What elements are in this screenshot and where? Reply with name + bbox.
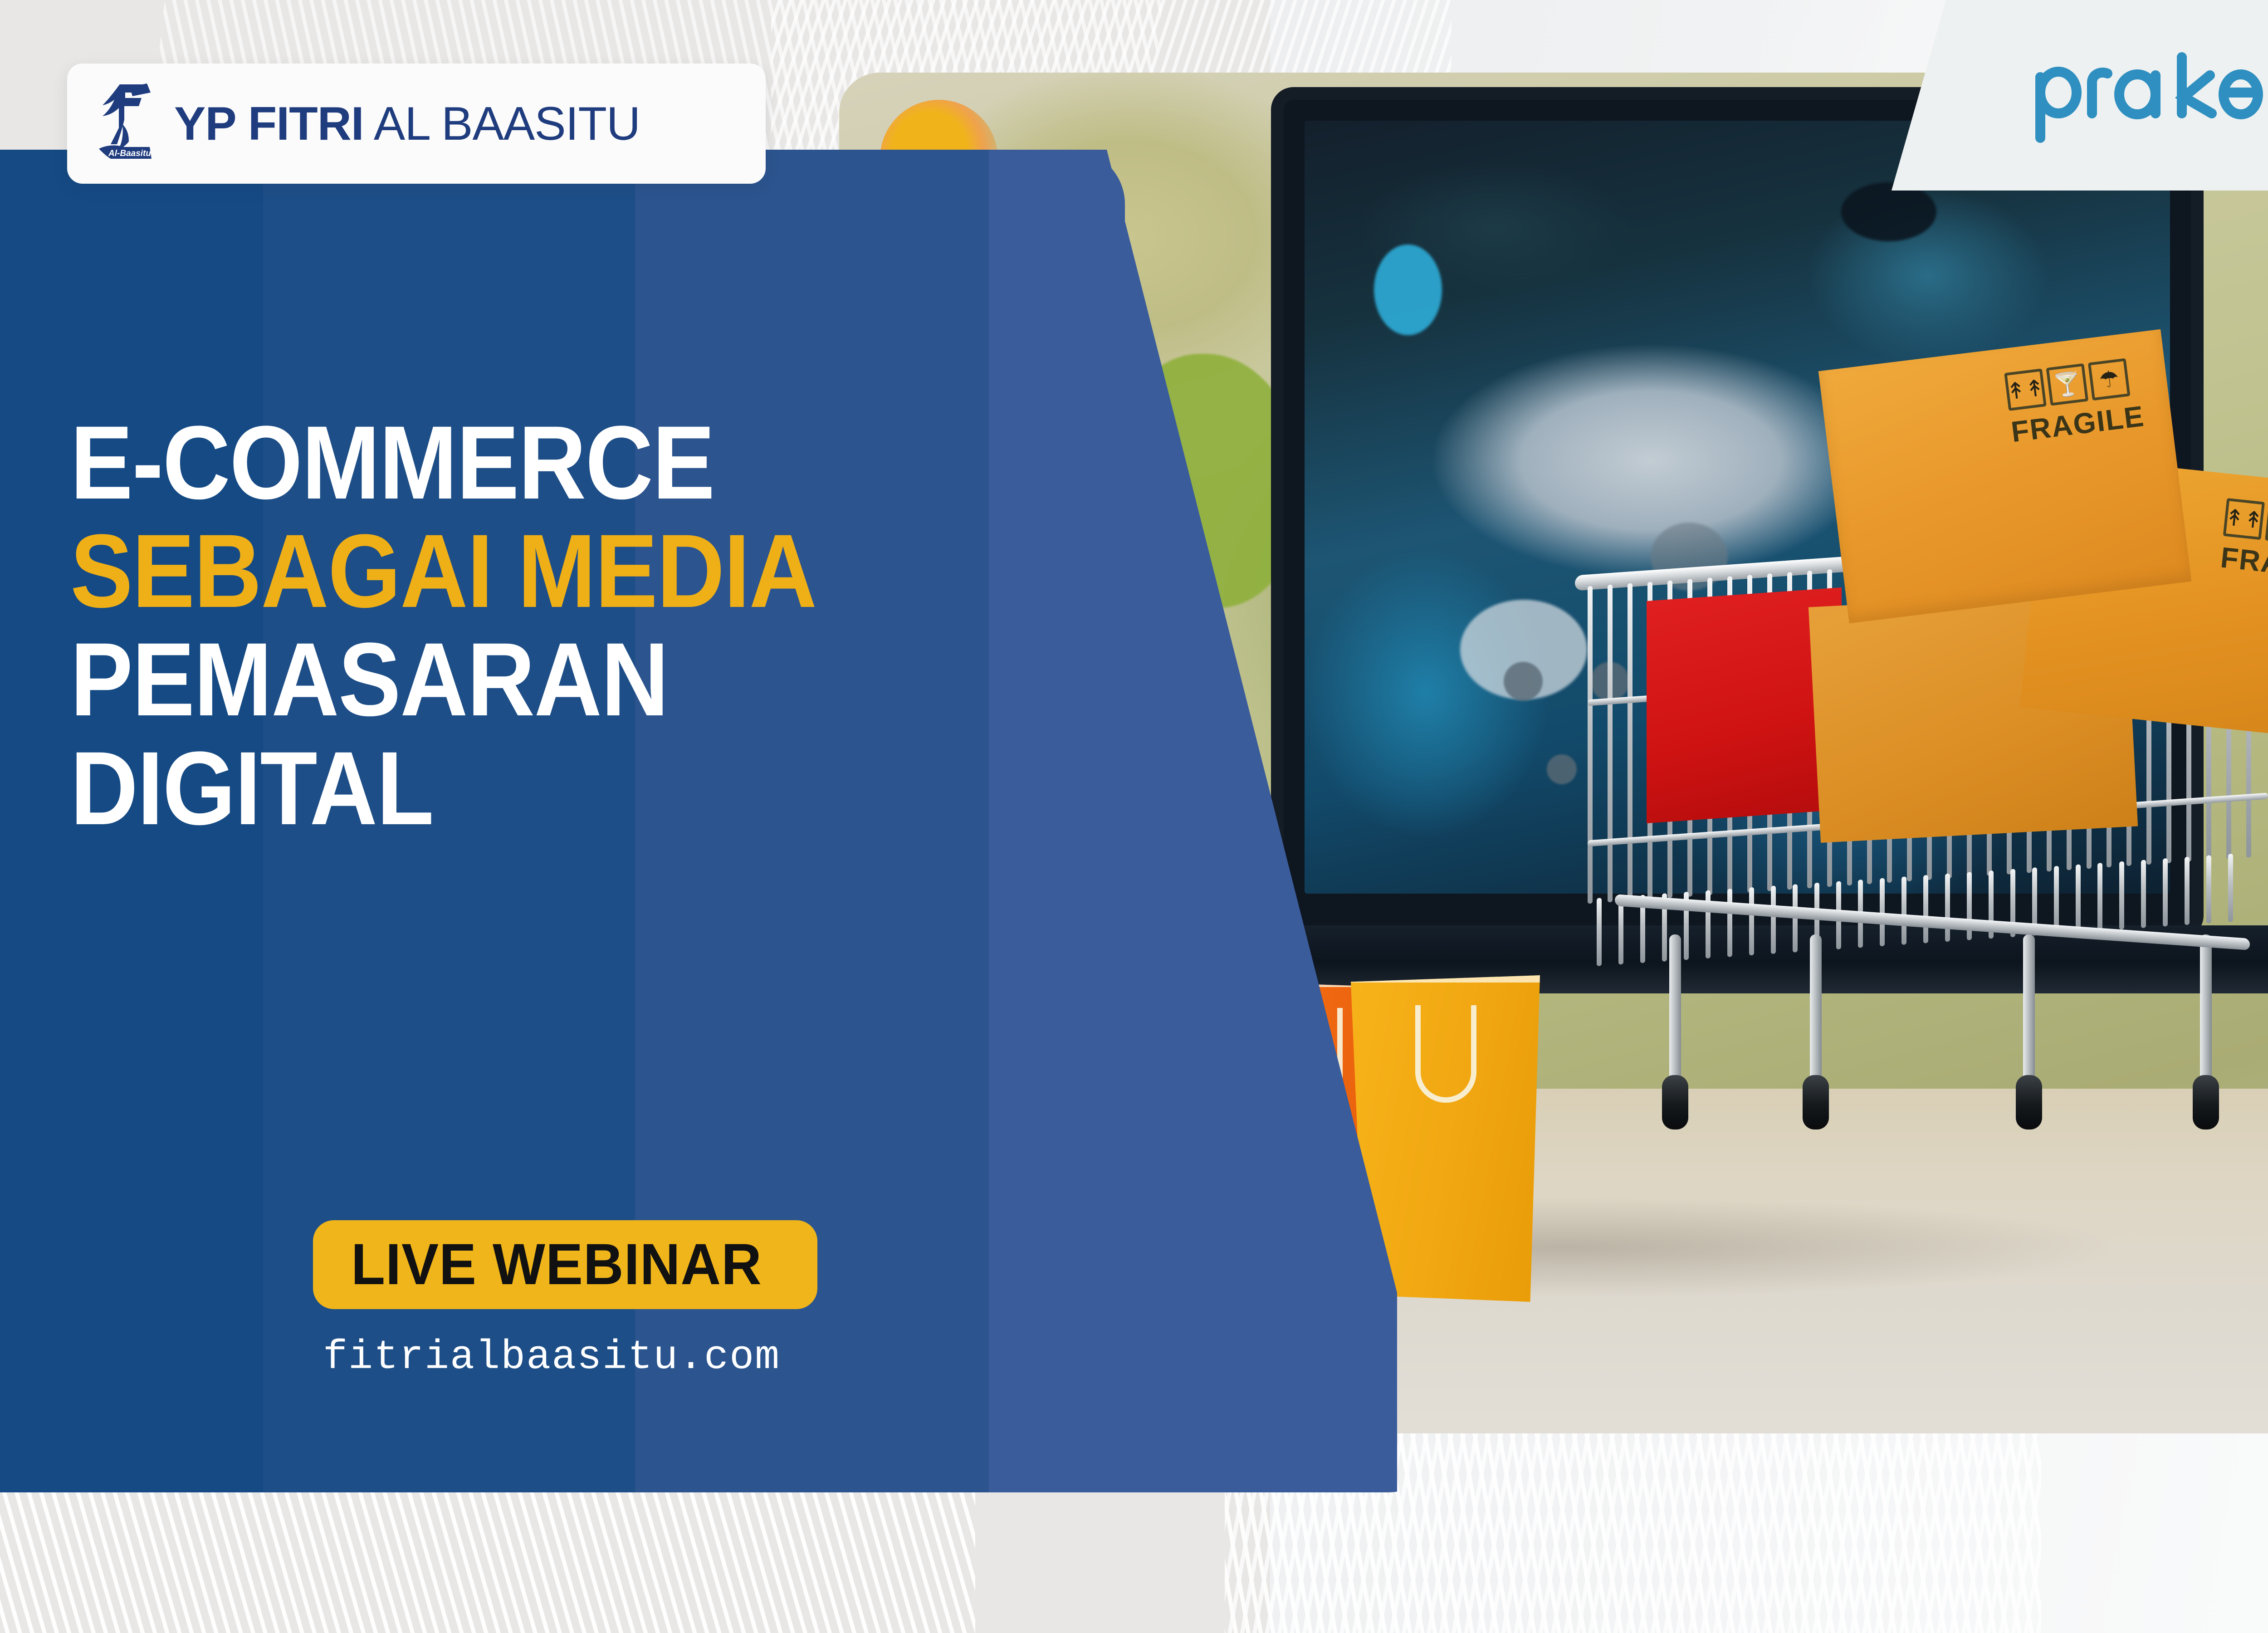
- cart-leg: [2023, 934, 2035, 1084]
- headline-line-2: SEBAGAI MEDIA: [70, 517, 968, 625]
- cart-leg: [1669, 934, 1681, 1084]
- cart-wheel: [1662, 1075, 1688, 1129]
- cart-wire: [2119, 861, 2124, 930]
- headline-block: E-COMMERCE SEBAGAI MEDIA PEMASARAN DIGIT…: [70, 408, 1068, 842]
- this-side-up-icon: ↟↟: [2004, 368, 2047, 411]
- al-baasitu-monogram-icon: Al-Baasitu: [91, 81, 159, 167]
- cart-wire: [2141, 860, 2146, 928]
- screen-dot: [1504, 662, 1543, 701]
- cart-legs: [1615, 934, 2250, 1188]
- cart-wire: [2163, 858, 2168, 927]
- organization-name: YP FITRI AL BAASITU: [174, 100, 640, 147]
- cart-wire: [1608, 585, 1613, 903]
- fragile-marking: ↟↟ 🍸 ☂ FRAGILE: [2219, 498, 2268, 588]
- headline-line-1: E-COMMERCE: [70, 408, 968, 517]
- fragile-label: FRAGILE: [2219, 540, 2268, 588]
- headline-line-3: PEMASARAN: [70, 625, 968, 733]
- live-webinar-label: LIVE WEBINAR: [351, 1236, 762, 1294]
- screen-blob: [1374, 244, 1442, 335]
- headline-line-4: DIGITAL: [70, 734, 968, 842]
- organization-name-bold: YP FITRI: [174, 98, 364, 150]
- cart-wire: [2054, 866, 2059, 934]
- cart-leg: [2200, 934, 2212, 1084]
- this-side-up-icon: ↟↟: [2223, 498, 2265, 540]
- wine-glass-icon: 🍸: [2265, 503, 2268, 544]
- screen-dot: [1547, 754, 1577, 784]
- cart-wire: [1628, 583, 1633, 901]
- cardboard-box-top: ↟↟ 🍸 ☂ FRAGILE: [1818, 329, 2192, 623]
- cart-wire: [1923, 875, 1928, 944]
- cart-wire: [1945, 874, 1950, 942]
- wine-glass-icon: 🍸: [2046, 363, 2089, 406]
- cart-wheel: [2193, 1075, 2219, 1129]
- cart-wire: [2228, 854, 2233, 922]
- cart-wheel: [1803, 1075, 1829, 1129]
- screen-blob: [1841, 182, 1936, 241]
- cart-leg: [1810, 934, 1822, 1084]
- cart-wire: [1588, 586, 1593, 904]
- organization-logo-card: Al-Baasitu YP FITRI AL BAASITU: [67, 64, 766, 184]
- cart-wire: [2097, 863, 2102, 931]
- cart-wire: [2185, 857, 2190, 925]
- prakerja-logo: [2024, 42, 2268, 146]
- cart-wheel: [2016, 1075, 2042, 1129]
- svg-text:Al-Baasitu: Al-Baasitu: [108, 149, 151, 158]
- promo-banner: ↟↟ 🍸 ☂ FRAGILE ↟↟ 🍸 ☂ FRAGILE: [0, 0, 2268, 1633]
- live-webinar-badge[interactable]: LIVE WEBINAR: [313, 1220, 817, 1309]
- website-url[interactable]: fitrialbaasitu.com: [323, 1335, 780, 1381]
- bag-handle: [1415, 1005, 1476, 1103]
- organization-name-light: AL BAASITU: [364, 98, 640, 150]
- fragile-marking: ↟↟ 🍸 ☂ FRAGILE: [2004, 357, 2148, 449]
- cart-wire: [2076, 864, 2081, 933]
- cart-wire: [2206, 855, 2211, 924]
- partner-logo-panel: [1892, 0, 2268, 191]
- cart-wire: [1597, 898, 1602, 966]
- umbrella-icon: ☂: [2088, 358, 2131, 401]
